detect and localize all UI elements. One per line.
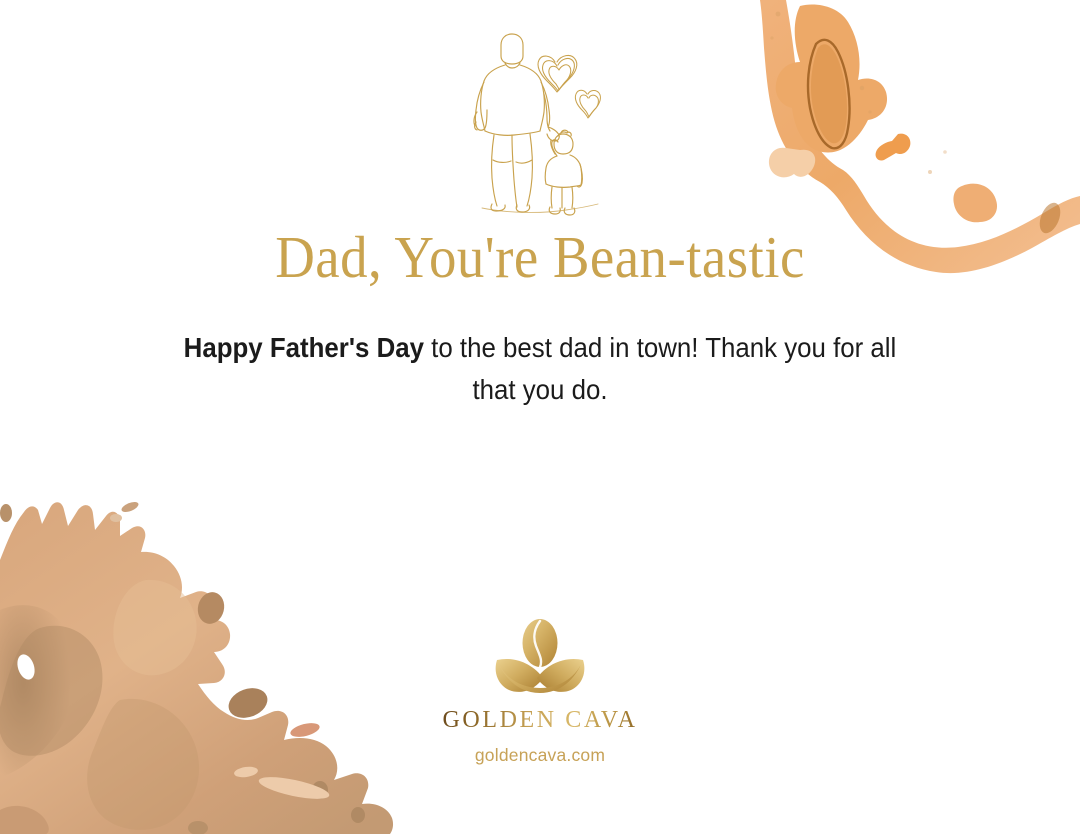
body-copy-lead: Happy Father's Day xyxy=(184,332,424,363)
coffee-bean-icon xyxy=(523,619,558,667)
coffee-bean-lotus-logo xyxy=(491,616,589,698)
body-copy: Happy Father's Day to the best dad in to… xyxy=(173,327,906,411)
brand-name: GOLDEN CAVA xyxy=(442,707,637,734)
headline: Dad, You're Bean-tastic xyxy=(38,224,1042,290)
greeting-card-canvas: Dad, You're Bean-tastic Happy Father's D… xyxy=(0,0,1080,834)
heart-large-icon xyxy=(538,55,577,92)
brand-url: goldencava.com xyxy=(0,745,1080,766)
body-copy-rest: to the best dad in town! Thank you for a… xyxy=(424,332,896,405)
heart-small-icon xyxy=(575,90,600,118)
father-and-child-line-art xyxy=(462,32,622,218)
logo-block: GOLDEN CAVA goldencava.com xyxy=(0,616,1080,766)
